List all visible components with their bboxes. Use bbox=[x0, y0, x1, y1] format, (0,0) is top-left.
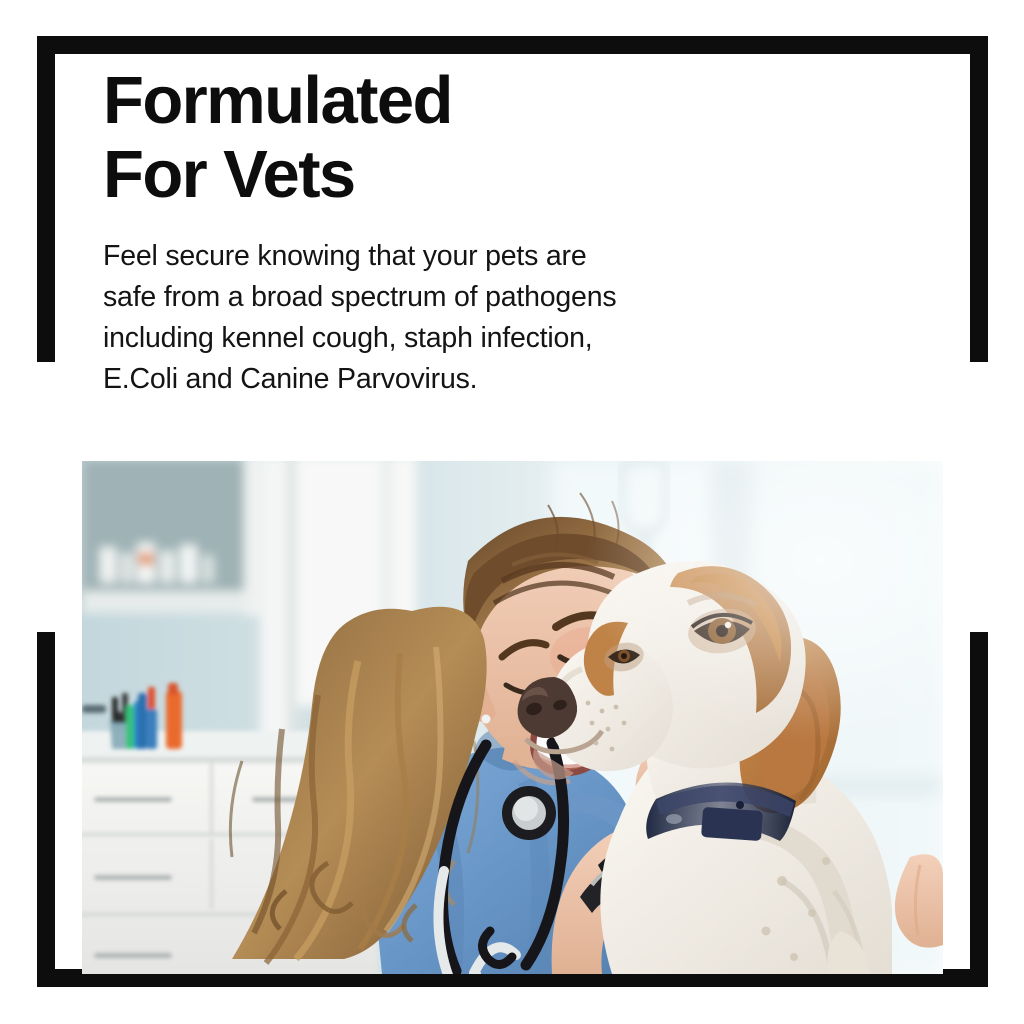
frame-left-upper-segment bbox=[37, 36, 55, 362]
poster-canvas: Formulated For Vets Feel secure knowing … bbox=[0, 0, 1024, 1024]
frame-right-lower-segment bbox=[970, 632, 988, 987]
frame-left-lower-segment bbox=[37, 632, 55, 987]
frame-right-upper-segment bbox=[970, 36, 988, 362]
frame-top-segment bbox=[37, 36, 988, 54]
veterinarian-dog-photo bbox=[82, 461, 943, 974]
body-copy: Feel secure knowing that your pets are s… bbox=[103, 236, 616, 400]
headline: Formulated For Vets bbox=[103, 64, 452, 212]
